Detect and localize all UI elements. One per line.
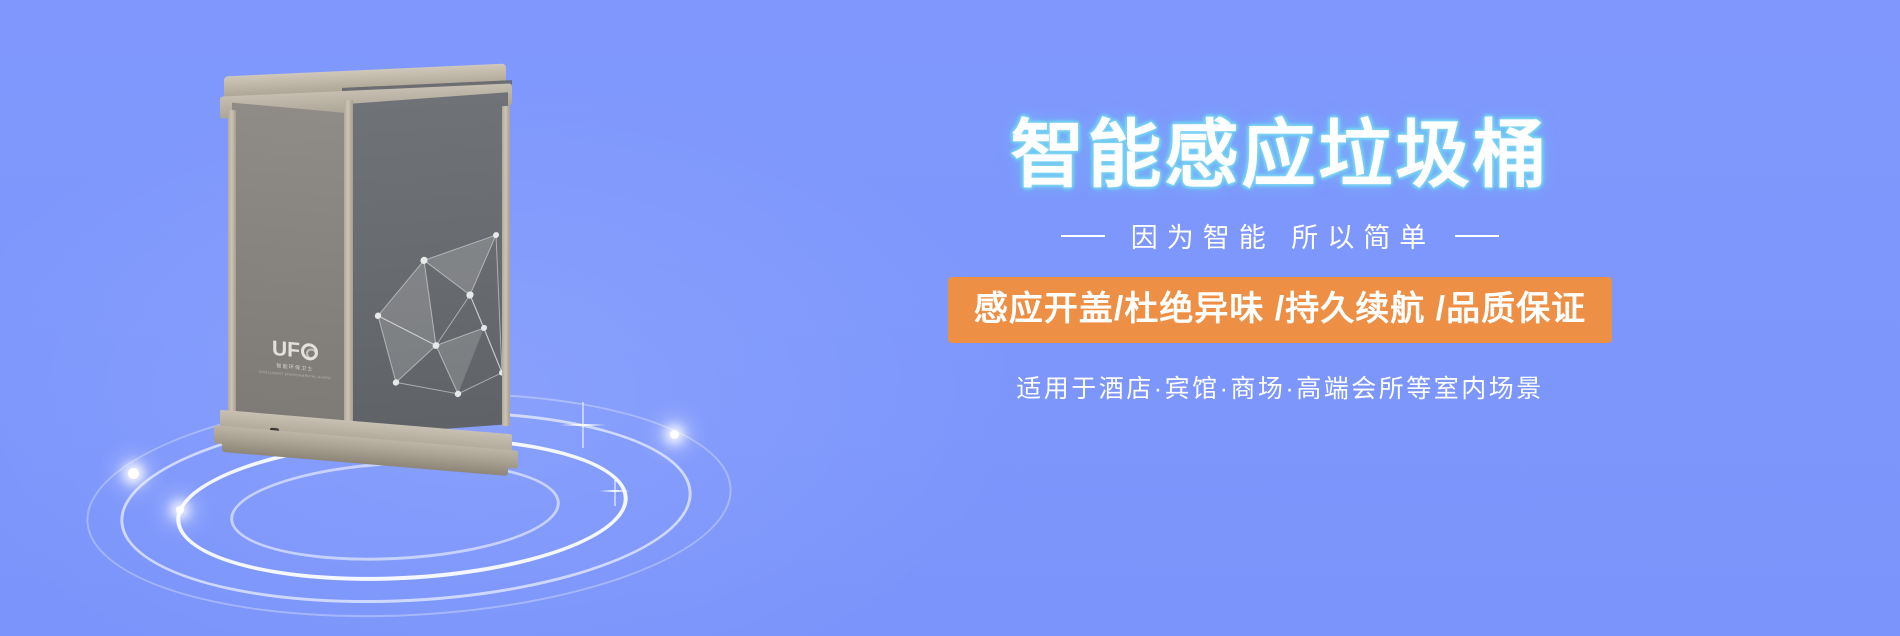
polygon-network-graphic [366, 214, 508, 425]
star-sparkle-icon [600, 476, 630, 506]
bin-edge-trim-left [228, 110, 236, 437]
brand-logo: UF 智能环保卫士 INTELLIGENT ENVIRONMENTAL GUAR… [258, 337, 332, 382]
tagline-text: 因为智能 所以简单 [1125, 216, 1436, 255]
feature-highlight-bar: 感应开盖/杜绝异味 /持久续航 /品质保证 [948, 277, 1612, 343]
tagline-rule-right [1455, 235, 1499, 237]
bin-face-right [350, 92, 508, 436]
page-title: 智能感应垃圾桶 [880, 118, 1680, 192]
product-stage: UF 智能环保卫士 INTELLIGENT ENVIRONMENTAL GUAR… [60, 20, 780, 620]
tagline: 因为智能 所以简单 [880, 216, 1680, 255]
smart-trash-bin-image: UF 智能环保卫士 INTELLIGENT ENVIRONMENTAL GUAR… [210, 40, 530, 460]
bin-edge-trim-right [502, 106, 510, 427]
bin-edge-trim-center [344, 100, 353, 436]
usage-scenario-text: 适用于酒店·宾馆·商场·高端会所等室内场景 [880, 369, 1680, 405]
sparkle-icon [176, 506, 184, 514]
promo-banner: UF 智能环保卫士 INTELLIGENT ENVIRONMENTAL GUAR… [0, 0, 1900, 636]
bin-face-left [232, 103, 350, 444]
logo-ring-icon [301, 343, 318, 362]
brand-mark-text: UF [272, 338, 300, 362]
tagline-rule-left [1061, 235, 1105, 237]
sparkle-icon [128, 468, 139, 479]
copy-block: 智能感应垃圾桶 因为智能 所以简单 感应开盖/杜绝异味 /持久续航 /品质保证 … [880, 118, 1680, 405]
star-sparkle-icon [560, 402, 606, 448]
sparkle-icon [670, 430, 679, 439]
